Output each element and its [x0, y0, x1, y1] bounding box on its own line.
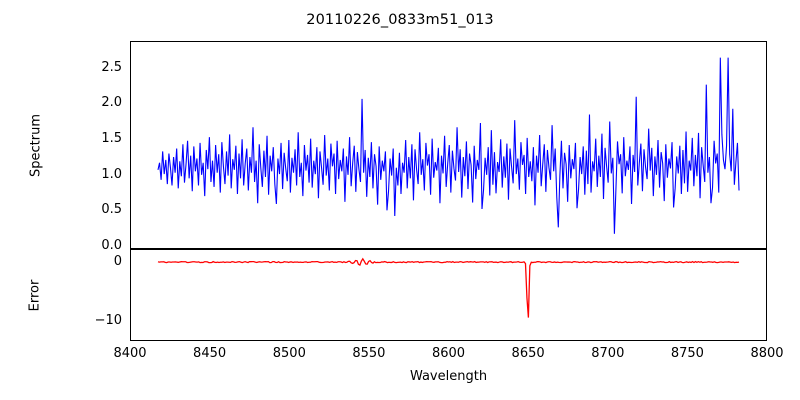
xaxis-title: Wavelength [130, 369, 767, 384]
error-plot-area [130, 249, 767, 341]
error-series-svg [131, 250, 766, 340]
xtick-label-3: 8550 [334, 347, 404, 361]
ytick-spectrum-2: 1.0 [60, 168, 122, 181]
spectrum-plot-area [130, 41, 767, 249]
xtick-mark-8 [0, 37, 1, 41]
xtick-label-6: 8700 [573, 347, 643, 361]
xtick-label-8: 8800 [732, 347, 800, 361]
page-title: 20110226_0833m51_013 [0, 12, 800, 28]
figure: 20110226_0833m51_013 0.0 0.5 1.0 1.5 2.0… [0, 0, 800, 400]
xtick-label-0: 8400 [95, 347, 165, 361]
ytick-spectrum-0: 0.0 [60, 239, 122, 252]
ytick-spectrum-1: 0.5 [60, 203, 122, 216]
error-line [158, 259, 739, 318]
xtick-label-5: 8650 [493, 347, 563, 361]
yaxis-title-error: Error [28, 256, 43, 336]
ytick-spectrum-3: 1.5 [60, 132, 122, 145]
xtick-label-7: 8750 [652, 347, 722, 361]
yaxis-title-spectrum: Spectrum [29, 86, 44, 206]
spectrum-series-svg [131, 42, 766, 248]
ytick-spectrum-5: 2.5 [60, 61, 122, 74]
spectrum-line [158, 58, 739, 234]
xtick-label-1: 8450 [175, 347, 245, 361]
xtick-label-4: 8600 [414, 347, 484, 361]
xtick-label-2: 8500 [254, 347, 324, 361]
ytick-spectrum-4: 2.0 [60, 96, 122, 109]
ytick-error-1: −10 [60, 314, 122, 327]
ytick-error-0: 0 [60, 255, 122, 268]
